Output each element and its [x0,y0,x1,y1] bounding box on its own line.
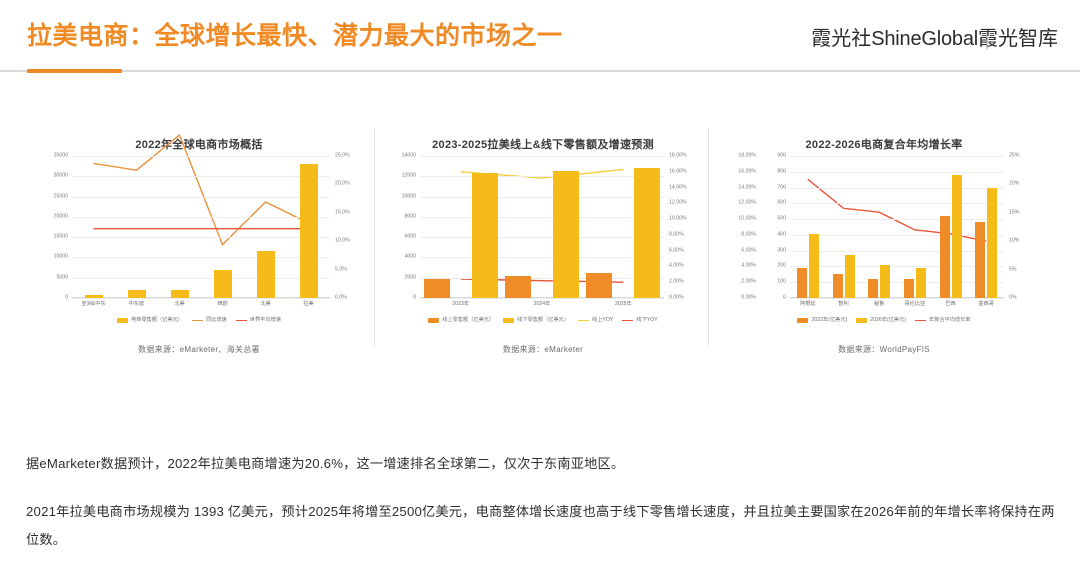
chart-bar [505,276,531,298]
y-axis-tick-left: 25000 [54,194,72,199]
y-axis-tick-left: 20000 [54,214,72,219]
legend-item: 线上YOY [578,318,613,323]
y-axis-tick-far-left: 10.00% [738,217,790,222]
chart-panel-global-ecommerce: 2022年全球电商市场概括 05000100001500020000250003… [24,122,374,372]
legend-label: 线下零售额（亿美元） [517,318,569,323]
chart-bar [300,164,318,298]
legend-item: 同比增速 [192,318,227,323]
legend-color-swatch [428,318,439,323]
legend-label: 电商零售额（亿美元） [131,318,183,323]
x-axis-line [420,297,664,298]
legend-label: 同比增速 [206,318,227,323]
y-axis-tick-left: 30000 [54,174,72,179]
chart-plot-area: 01002003004005006007008009000%5%10%15%20… [790,156,1004,298]
legend-item: 年复合平均增长率 [915,318,971,323]
chart-title: 2022年全球电商市场概括 [24,136,374,152]
chart-bar [171,290,189,298]
y-axis-tick-left: 0 [65,295,72,300]
chart-line-overlay [420,156,664,298]
grid-line [790,203,1004,204]
grid-line [72,197,330,198]
y-axis-tick-right: 6.00% [664,248,684,253]
chart-bar [845,255,855,298]
grid-line [420,237,664,238]
y-axis-tick-right: 20.0% [330,182,350,187]
y-axis-tick-left: 15000 [54,235,72,240]
y-axis-tick-right: 10% [1004,239,1019,244]
chart-plot-area: 050001000015000200002500030000350000.0%5… [72,156,330,298]
legend-label: 2026年(亿美元) [870,318,906,323]
grid-line [72,298,330,299]
chart-plot-area: 020004000600080001000012000140000.00%2.0… [420,156,664,298]
chart-panel-latam-retail: 2023-2025拉美线上&线下零售额及增速预测 020004000600080… [378,122,708,372]
x-axis-tick: 巴西 [945,302,955,307]
y-axis-tick-right: 25.0% [330,153,350,158]
legend-item: 世界平均增速 [236,318,281,323]
y-axis-tick-left: 14000 [402,153,420,158]
y-axis-tick-right: 10.00% [664,217,687,222]
brand-logo: 霞光社ShineGlobal|霞光智库 [811,22,1058,51]
x-axis-line [72,297,330,298]
y-axis-tick-far-left: 6.00% [741,248,790,253]
page-title: 拉美电商：全球增长最快、潜力最大的市场之一 [27,16,563,52]
y-axis-tick-far-left: 12.00% [738,201,790,206]
grid-line [420,197,664,198]
y-axis-tick-right: 15.0% [330,210,350,215]
y-axis-tick-far-left: 18.00% [738,153,790,158]
chart-source: 数据来源：eMarketer、海关总署 [24,344,374,355]
y-axis-tick-right: 10.0% [330,239,350,244]
legend-color-swatch [797,318,808,323]
grid-line [790,188,1004,189]
x-axis-tick: 阿根廷 [800,302,816,307]
chart-panel-cagr: 2022-2026电商复合年均增长率 010020030040050060070… [712,122,1056,372]
legend-label: 年复合平均增长率 [929,318,971,323]
y-axis-tick-right: 25% [1004,153,1019,158]
chart-line-overlay [72,156,330,298]
y-axis-tick-left: 12000 [402,174,420,179]
grid-line [420,278,664,279]
y-axis-tick-right: 0% [1004,295,1017,300]
y-axis-tick-left: 6000 [404,235,420,240]
chart-bar [916,268,926,298]
chart-bar [797,268,807,298]
grid-line [72,278,330,279]
grid-line [72,156,330,157]
brand-divider: | [978,28,996,51]
y-axis-tick-right: 5% [1004,267,1017,272]
x-axis-tick: 哥伦比亚 [904,302,925,307]
y-axis-tick-right: 12.00% [664,201,687,206]
legend-line-swatch [236,320,247,322]
chart-bar [975,222,985,298]
chart-bar [880,265,890,298]
x-axis-tick: 2023年 [452,302,469,307]
brand-name-en: ShineGlobal [871,28,978,50]
grid-line [790,266,1004,267]
x-axis-tick: 西欧 [217,302,227,307]
legend-label: 2022年(亿美元) [811,318,847,323]
slide-page: 拉美电商：全球增长最快、潜力最大的市场之一 霞光社ShineGlobal|霞光智… [0,0,1080,570]
grid-line [420,217,664,218]
chart-bar [987,188,997,298]
chart-bar [424,279,450,298]
y-axis-tick-right: 0.00% [664,295,684,300]
y-axis-tick-left: 8000 [404,214,420,219]
legend-item: 电商零售额（亿美元） [117,318,183,323]
legend-label: 线上YOY [592,318,613,323]
y-axis-tick-right: 14.00% [664,185,687,190]
y-axis-tick-left: 10000 [402,194,420,199]
charts-row: 2022年全球电商市场概括 05000100001500020000250003… [0,122,1080,372]
x-axis-tick: 2024年 [534,302,551,307]
x-axis-tick: 拉美 [303,302,313,307]
grid-line [420,156,664,157]
chart-bar [128,290,146,298]
legend-line-swatch [192,320,203,322]
y-axis-tick-far-left: 14.00% [738,185,790,190]
legend-label: 线上零售额（亿美元） [442,318,494,323]
grid-line [420,257,664,258]
legend-item: 线上零售额（亿美元） [428,318,494,323]
y-axis-tick-left: 4000 [404,255,420,260]
chart-bar [257,251,275,298]
page-header: 拉美电商：全球增长最快、潜力最大的市场之一 霞光社ShineGlobal|霞光智… [0,0,1080,72]
y-axis-tick-far-left: 4.00% [741,264,790,269]
x-axis-tick: 亚洲&中东 [81,302,105,307]
header-accent-bar [27,69,122,73]
chart-bar [472,173,498,298]
grid-line [72,217,330,218]
y-axis-tick-left: 10000 [54,255,72,260]
x-axis-line [790,297,1004,298]
grid-line [790,282,1004,283]
legend-color-swatch [117,318,128,323]
y-axis-tick-far-left: 0.00% [741,295,790,300]
y-axis-tick-right: 5.0% [330,267,347,272]
x-axis-tick: 秘鲁 [874,302,884,307]
grid-line [72,257,330,258]
y-axis-tick-left: 2000 [404,275,420,280]
grid-line [420,298,664,299]
y-axis-tick-right: 15% [1004,210,1019,215]
chart-bar [952,175,962,298]
y-axis-tick-right: 0.0% [330,295,347,300]
y-axis-tick-left: 0 [413,295,420,300]
chart-legend: 电商零售额（亿美元）同比增速世界平均增速 [24,318,374,323]
chart-bar [904,279,914,298]
grid-line [72,176,330,177]
legend-item: 2022年(亿美元) [797,318,847,323]
grid-line [790,172,1004,173]
paragraph-2: 2021年拉美电商市场规模为 1393 亿美元，预计2025年将增至2500亿美… [26,498,1058,554]
legend-color-swatch [503,318,514,323]
y-axis-tick-right: 8.00% [664,232,684,237]
y-axis-tick-right: 16.00% [664,169,687,174]
chart-source: 数据来源：eMarketer [378,344,708,355]
legend-line-swatch [578,320,589,322]
y-axis-tick-far-left: 16.00% [738,169,790,174]
chart-divider-1 [374,128,375,346]
legend-item: 线下零售额（亿美元） [503,318,569,323]
legend-color-swatch [856,318,867,323]
grid-line [72,237,330,238]
body-text-block: 据eMarketer数据预计，2022年拉美电商增速为20.6%，这一增速排名全… [26,450,1058,554]
paragraph-1: 据eMarketer数据预计，2022年拉美电商增速为20.6%，这一增速排名全… [26,450,1058,478]
chart-source: 数据来源：WorldPayFIS [712,344,1056,355]
chart-bar [85,295,103,298]
legend-label: 世界平均增速 [250,318,281,323]
chart-title: 2022-2026电商复合年均增长率 [712,136,1056,152]
x-axis-tick: 墨西哥 [978,302,994,307]
legend-line-swatch [622,320,633,322]
legend-item: 2026年(亿美元) [856,318,906,323]
header-divider-line [0,70,1080,72]
legend-label: 线下YOY [636,318,657,323]
chart-title: 2023-2025拉美线上&线下零售额及增速预测 [378,136,708,152]
grid-line [790,156,1004,157]
chart-line-overlay [790,156,1004,298]
chart-bar [868,279,878,298]
grid-line [790,235,1004,236]
grid-line [420,176,664,177]
x-axis-tick: 中东欧 [129,302,145,307]
grid-line [790,298,1004,299]
y-axis-tick-left: 35000 [54,153,72,158]
chart-bar [553,171,579,298]
y-axis-tick-far-left: 8.00% [741,232,790,237]
chart-legend: 2022年(亿美元)2026年(亿美元)年复合平均增长率 [712,318,1056,323]
chart-divider-2 [708,128,709,346]
chart-bar [940,216,950,298]
x-axis-tick: 北美 [174,302,184,307]
y-axis-tick-far-left: 2.00% [741,280,790,285]
x-axis-tick: 2025年 [615,302,632,307]
y-axis-tick-right: 2.00% [664,280,684,285]
y-axis-tick-right: 4.00% [664,264,684,269]
chart-bar [214,270,232,298]
legend-line-swatch [915,320,926,322]
x-axis-tick: 智利 [838,302,848,307]
chart-bar [586,273,612,298]
y-axis-tick-left: 5000 [56,275,72,280]
legend-item: 线下YOY [622,318,657,323]
x-axis-tick: 北美 [260,302,270,307]
grid-line [790,251,1004,252]
grid-line [790,219,1004,220]
chart-legend: 线上零售额（亿美元）线下零售额（亿美元）线上YOY线下YOY [378,318,708,323]
chart-bar [809,234,819,298]
chart-bar [634,168,660,298]
y-axis-tick-right: 20% [1004,182,1019,187]
y-axis-tick-right: 18.00% [664,153,687,158]
chart-bar [833,274,843,298]
brand-name-cn: 霞光社 [811,28,871,50]
